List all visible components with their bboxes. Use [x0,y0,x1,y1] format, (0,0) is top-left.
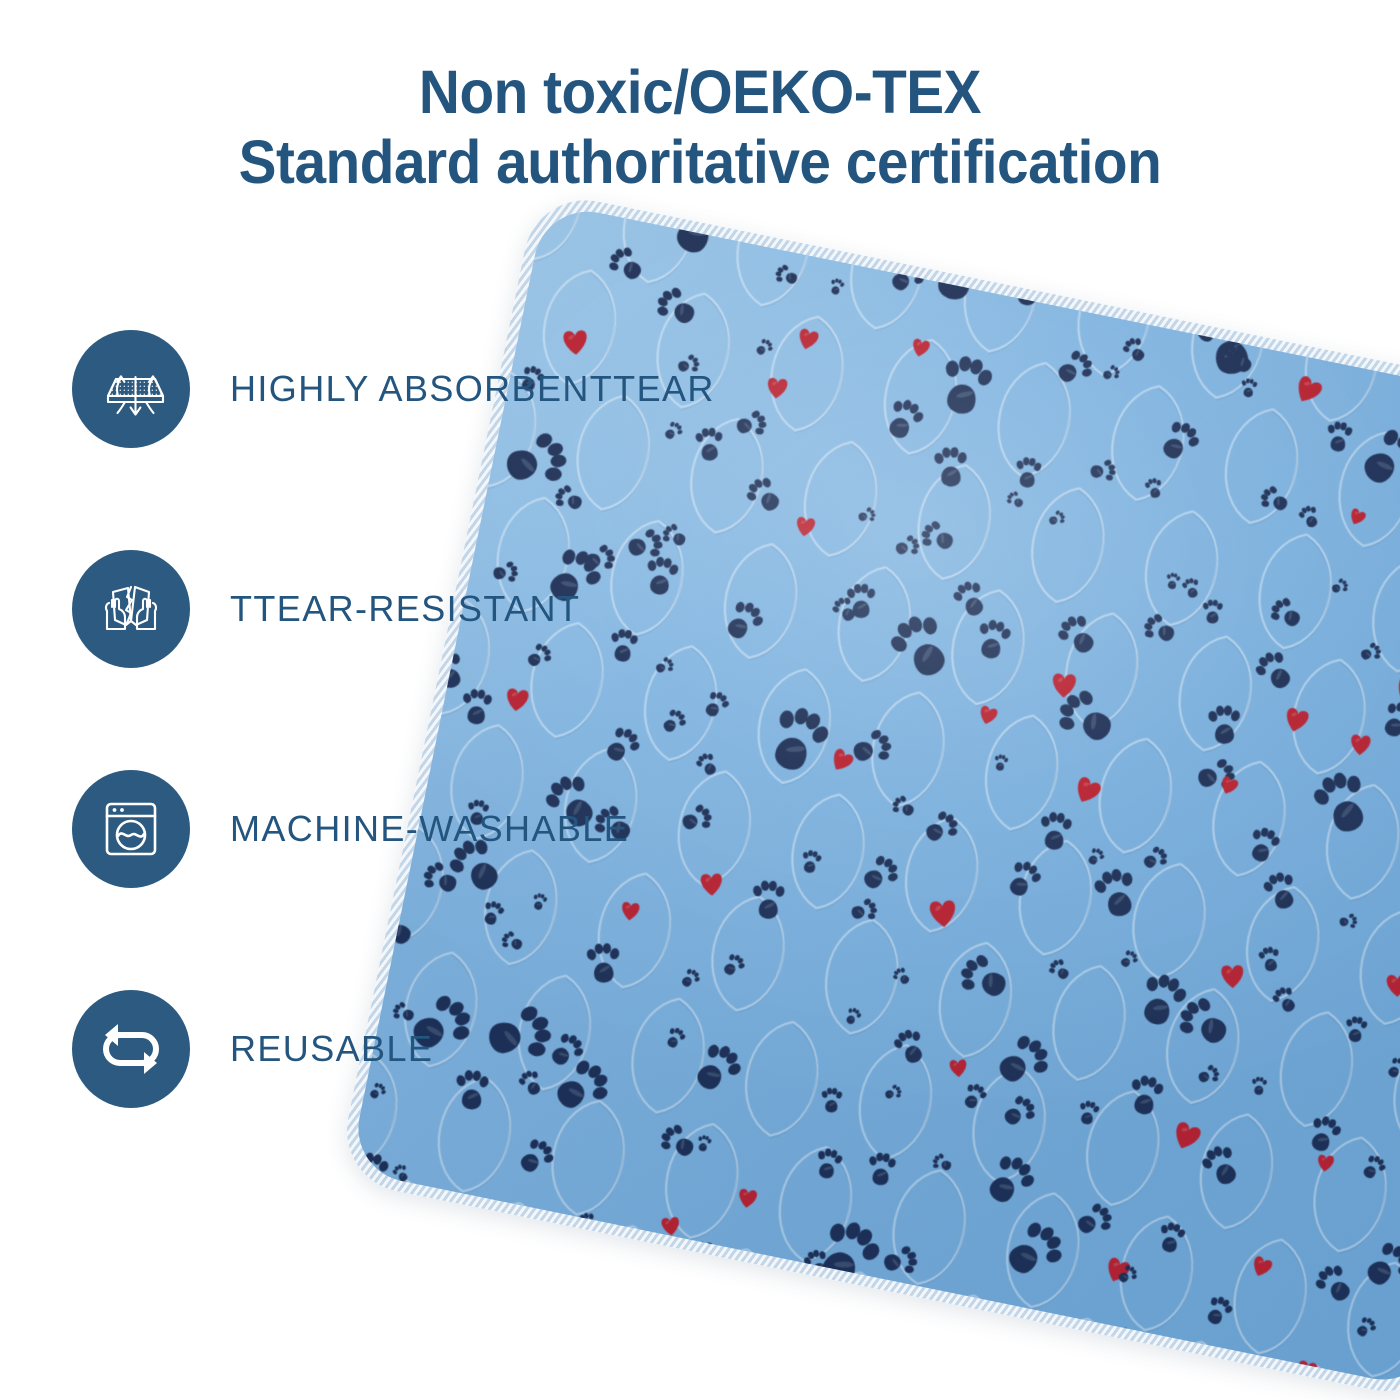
infographic-canvas: Non toxic/OEKO-TEX Standard authoritativ… [0,0,1400,1400]
absorbent-mattress-icon [72,330,190,448]
feature-item-tear-resistant[interactable]: TTEAR-RESISTANT [72,550,692,770]
title-line-2: Standard authoritative certification [49,128,1351,198]
page-title: Non toxic/OEKO-TEX Standard authoritativ… [0,58,1400,197]
washing-machine-icon [72,770,190,888]
feature-item-reusable[interactable]: REUSABLE [72,990,692,1210]
feature-label: REUSABLE [230,1028,433,1070]
feature-label: HIGHLY ABSORBENTTEAR [230,368,715,410]
feature-label: TTEAR-RESISTANT [230,588,580,630]
loop-arrows-icon [72,990,190,1108]
title-line-1: Non toxic/OEKO-TEX [49,58,1351,128]
feature-list: HIGHLY ABSORBENTTEAR [72,330,692,1210]
feature-label: MACHINE-WASHABLE [230,808,629,850]
feature-item-absorbent[interactable]: HIGHLY ABSORBENTTEAR [72,330,692,550]
feature-item-machine-washable[interactable]: MACHINE-WASHABLE [72,770,692,990]
tearing-hands-icon [72,550,190,668]
